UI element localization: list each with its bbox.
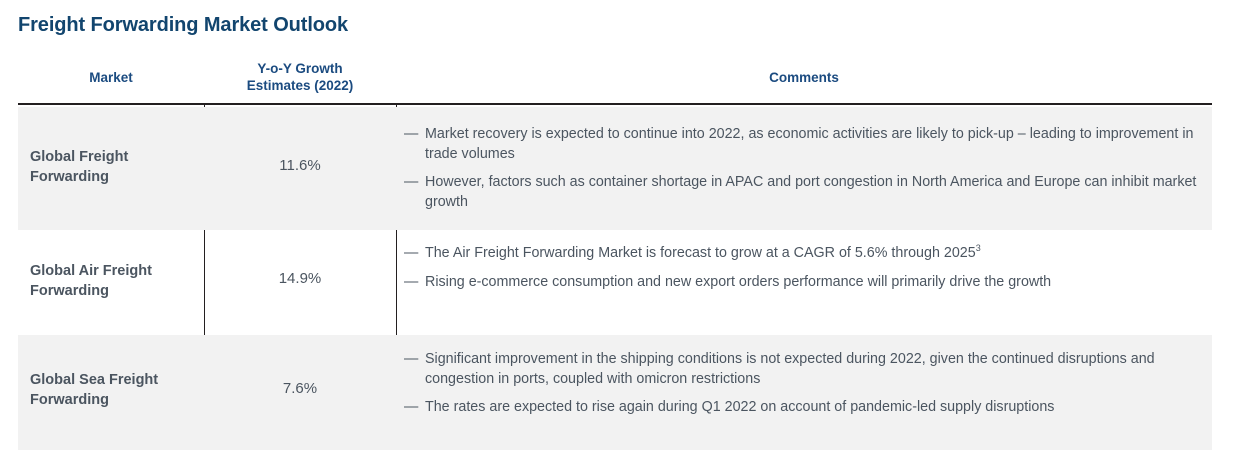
comment-bullet: — The rates are expected to rise again d… <box>404 398 1204 418</box>
table-row: Global Freight Forwarding 11.6% — Market… <box>18 107 1212 230</box>
cell-growth-estimate: 14.9% <box>204 270 396 287</box>
column-header-comments: Comments <box>396 69 1212 86</box>
dash-icon: — <box>404 125 418 145</box>
column-header-growth-line2: Estimates (2022) <box>204 77 396 94</box>
comment-text: However, factors such as container short… <box>425 173 1204 212</box>
cell-growth-estimate: 11.6% <box>204 157 396 174</box>
market-name-line2: Forwarding <box>30 390 200 410</box>
outlook-table: Global Freight Forwarding 11.6% — Market… <box>18 103 1212 450</box>
market-name-line1: Global Sea Freight <box>30 370 200 390</box>
comment-text: The Air Freight Forwarding Market is for… <box>425 244 1204 264</box>
dash-icon: — <box>404 350 418 370</box>
comment-text: Significant improvement in the shipping … <box>425 350 1204 389</box>
comment-bullet: — However, factors such as container sho… <box>404 173 1204 212</box>
market-name-line1: Global Air Freight <box>30 261 200 281</box>
comment-text: Market recovery is expected to continue … <box>425 125 1204 164</box>
comment-bullet: — Rising e-commerce consumption and new … <box>404 273 1204 293</box>
column-header-market: Market <box>18 69 204 86</box>
dash-icon: — <box>404 273 418 293</box>
dash-icon: — <box>404 244 418 264</box>
table-header-row: Market Y-o-Y Growth Estimates (2022) Com… <box>18 56 1212 102</box>
comment-bullet: — Significant improvement in the shippin… <box>404 350 1204 389</box>
comment-bullet: — The Air Freight Forwarding Market is f… <box>404 244 1204 264</box>
cell-market: Global Air Freight Forwarding <box>30 261 200 301</box>
column-header-growth-line1: Y-o-Y Growth <box>204 60 396 77</box>
comment-text: Rising e-commerce consumption and new ex… <box>425 273 1204 293</box>
market-name-line2: Forwarding <box>30 167 200 187</box>
cell-growth-estimate: 7.6% <box>204 380 396 397</box>
footnote-marker: 3 <box>976 243 981 253</box>
table-row: Global Air Freight Forwarding 14.9% — Th… <box>18 230 1212 335</box>
comment-text-body: The Air Freight Forwarding Market is for… <box>425 245 976 261</box>
cell-comments: — The Air Freight Forwarding Market is f… <box>404 244 1204 292</box>
cell-comments: — Significant improvement in the shippin… <box>404 350 1204 418</box>
freight-forwarding-outlook-page: Freight Forwarding Market Outlook Market… <box>0 0 1234 473</box>
market-name-line2: Forwarding <box>30 281 200 301</box>
cell-market: Global Freight Forwarding <box>30 147 200 187</box>
cell-comments: — Market recovery is expected to continu… <box>404 125 1204 212</box>
comment-text: The rates are expected to rise again dur… <box>425 398 1204 418</box>
page-title: Freight Forwarding Market Outlook <box>18 14 348 37</box>
market-name-line1: Global Freight <box>30 147 200 167</box>
column-header-growth: Y-o-Y Growth Estimates (2022) <box>204 60 396 94</box>
dash-icon: — <box>404 173 418 193</box>
dash-icon: — <box>404 398 418 418</box>
table-row: Global Sea Freight Forwarding 7.6% — Sig… <box>18 335 1212 450</box>
cell-market: Global Sea Freight Forwarding <box>30 370 200 410</box>
comment-bullet: — Market recovery is expected to continu… <box>404 125 1204 164</box>
